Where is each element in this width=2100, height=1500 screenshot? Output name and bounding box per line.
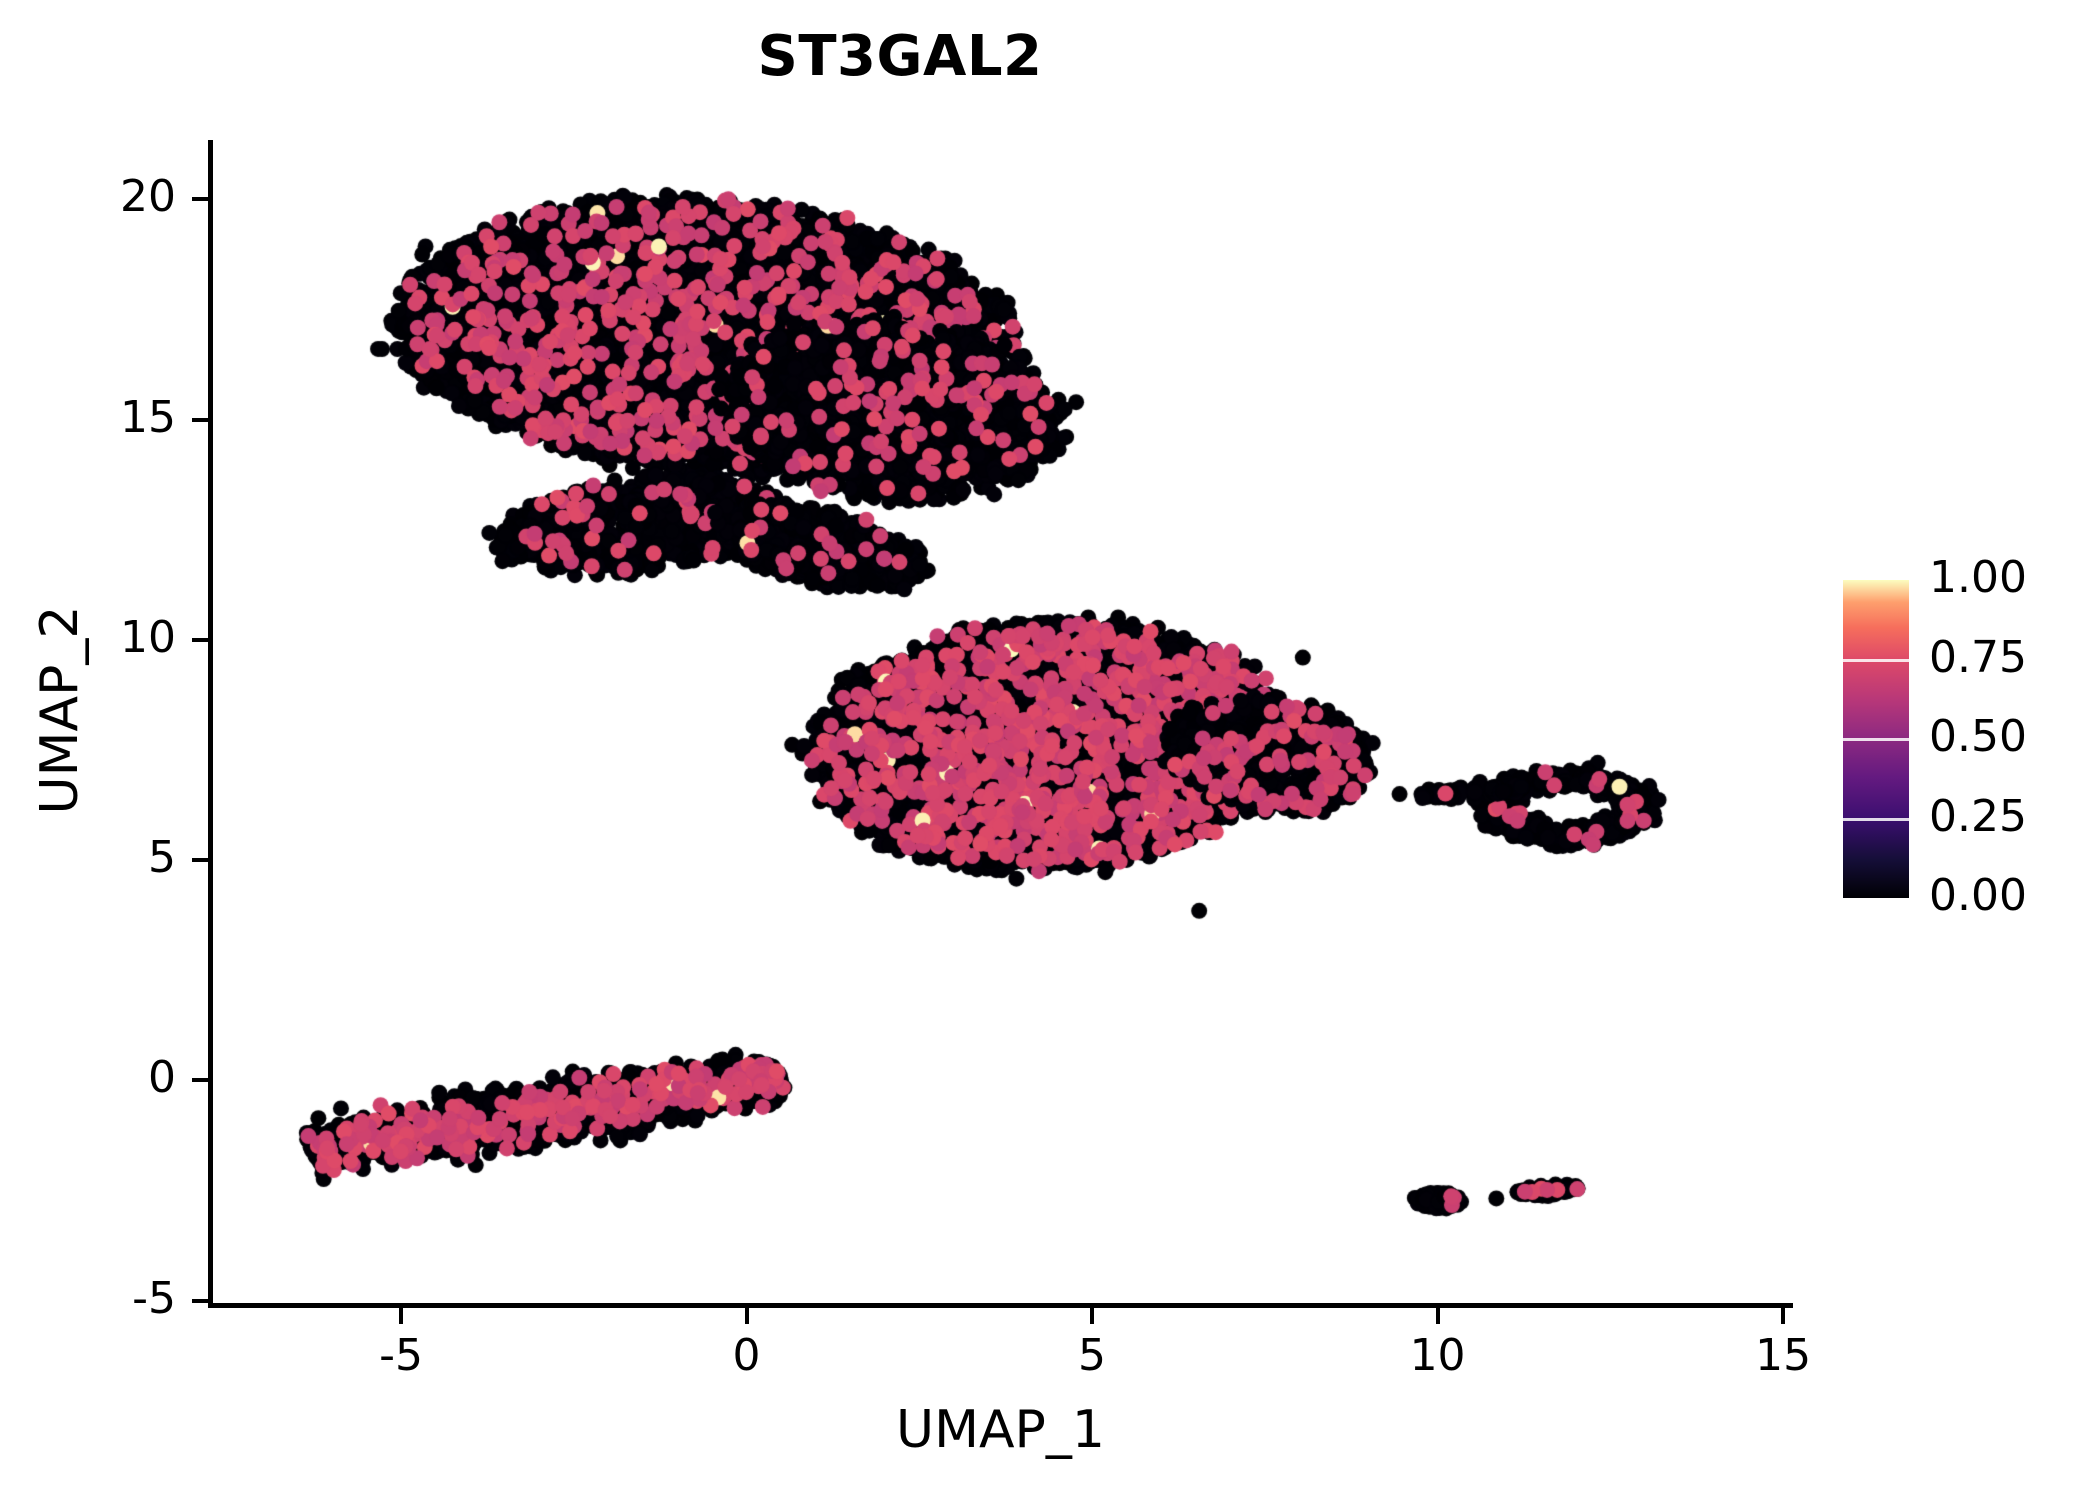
colorbar-tick-label: 0.00	[1929, 870, 2079, 921]
x-tick-label: 15	[1703, 1330, 1863, 1381]
y-tick-mark	[192, 418, 208, 422]
y-axis-label: UMAP_2	[30, 360, 90, 1060]
x-tick-mark	[1781, 1308, 1785, 1324]
y-tick-mark	[192, 858, 208, 862]
y-tick-mark	[192, 1078, 208, 1082]
colorbar-tick-mark	[1843, 659, 1909, 662]
colorbar-tick-mark	[1843, 738, 1909, 741]
colorbar-tick-label: 0.50	[1929, 711, 2079, 762]
x-tick-mark	[1436, 1308, 1440, 1324]
x-axis-label: UMAP_1	[211, 1400, 1790, 1460]
plot-area[interactable]	[211, 140, 1790, 1305]
axis-spine-bottom	[208, 1303, 1793, 1308]
colorbar-tick-mark	[1843, 818, 1909, 821]
x-tick-label: 10	[1358, 1330, 1518, 1381]
axis-spine-left	[208, 140, 213, 1308]
colorbar[interactable]: 0.000.250.500.751.00	[1843, 580, 2083, 900]
x-tick-mark	[399, 1308, 403, 1324]
scatter-canvas[interactable]	[211, 140, 1790, 1305]
y-tick-mark	[192, 197, 208, 201]
colorbar-tick-label: 0.75	[1929, 632, 2079, 683]
x-tick-label: -5	[321, 1330, 481, 1381]
x-tick-label: 0	[667, 1330, 827, 1381]
x-tick-label: 5	[1012, 1330, 1172, 1381]
x-tick-mark	[1090, 1308, 1094, 1324]
colorbar-tick-label: 0.25	[1929, 791, 2079, 842]
colorbar-tick-label: 1.00	[1929, 552, 2079, 603]
x-tick-mark	[745, 1308, 749, 1324]
y-tick-mark	[192, 638, 208, 642]
y-tick-mark	[192, 1299, 208, 1303]
page-title: ST3GAL2	[0, 24, 1800, 89]
y-tick-label: 0	[0, 1052, 176, 1103]
y-tick-label: 20	[0, 171, 176, 222]
y-tick-label: -5	[0, 1273, 176, 1324]
umap-feature-plot: ST3GAL2 -5051015 -505101520 UMAP_1 UMAP_…	[0, 0, 2100, 1500]
